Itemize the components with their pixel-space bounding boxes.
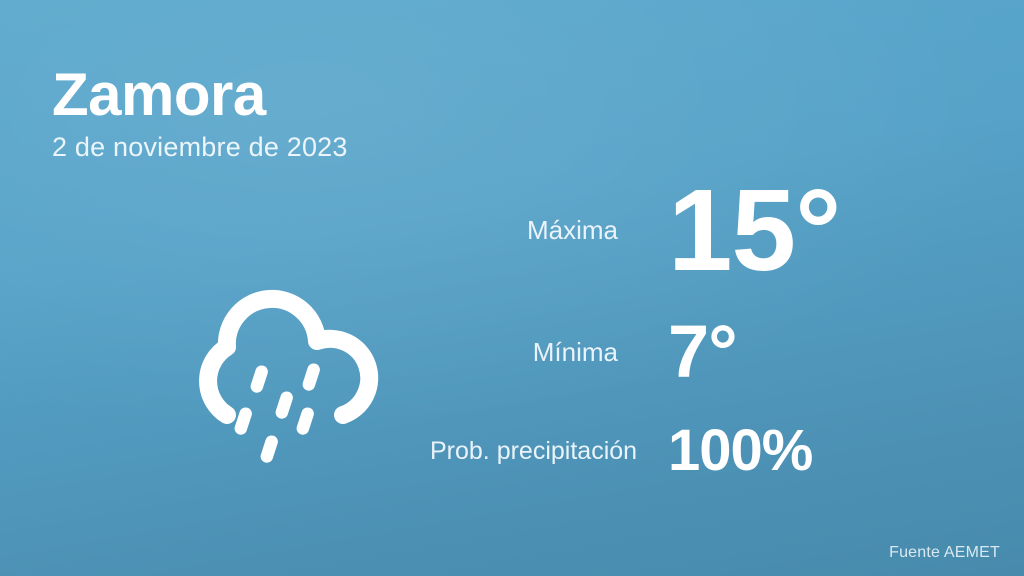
reading-value-maxima: 15° [668, 172, 840, 288]
reading-value-minima: 7° [668, 315, 737, 389]
page-title: Zamora [52, 64, 612, 125]
cloud-rain-icon [175, 255, 395, 475]
reading-value-precipitacion: 100% [668, 422, 812, 480]
weather-card: Zamora 2 de noviembre de 2023 Máxima 15°… [0, 0, 1024, 576]
reading-row-minima: Mínima 7° [430, 292, 950, 412]
reading-label-precipitacion: Prob. precipitación [430, 437, 668, 466]
reading-row-precipitacion: Prob. precipitación 100% [430, 412, 950, 490]
reading-label-minima: Mínima [430, 337, 668, 368]
forecast-date: 2 de noviembre de 2023 [52, 133, 612, 163]
location-header: Zamora 2 de noviembre de 2023 [52, 64, 612, 163]
source-attribution: Fuente AEMET [889, 544, 1000, 562]
reading-row-maxima: Máxima 15° [430, 168, 950, 292]
reading-label-maxima: Máxima [430, 215, 668, 246]
readings-list: Máxima 15° Mínima 7° Prob. precipitación… [430, 168, 950, 490]
